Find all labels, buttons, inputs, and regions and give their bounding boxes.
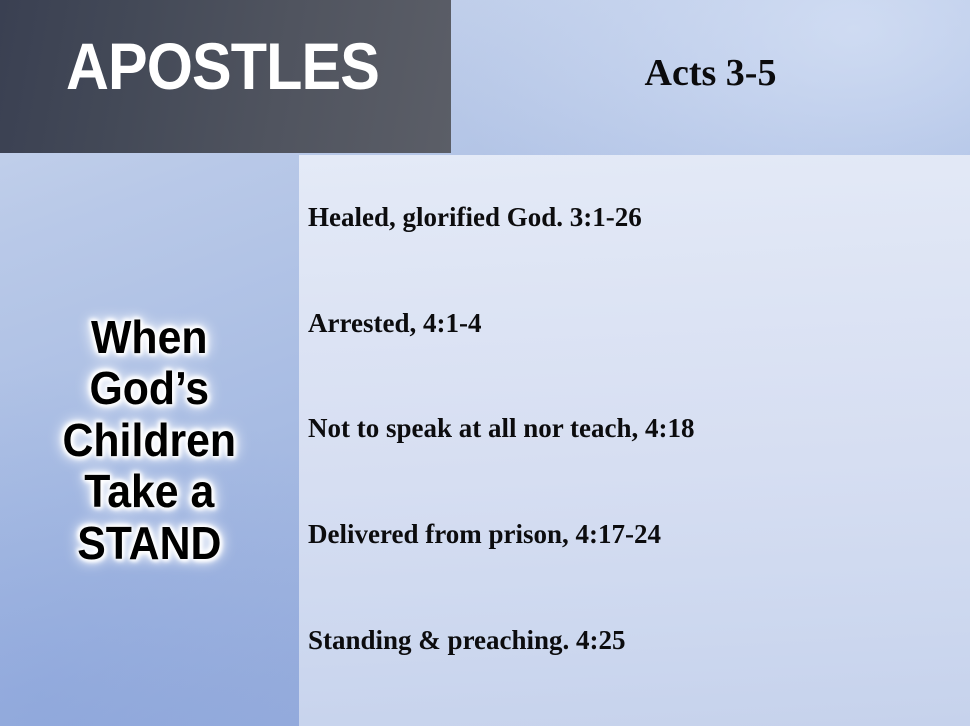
sidebar-headline-line-4: Take a [63,466,237,518]
scripture-reference-text: Acts 3-5 [645,51,777,95]
outline-point: Standing & preaching. 4:25 [308,626,970,656]
sidebar-headline-panel: When God’s Children Take a STAND [0,155,299,726]
outline-point: Delivered from prison, 4:17-24 [308,520,970,550]
sidebar-headline-line-3: Children [63,415,237,467]
sidebar-headline: When God’s Children Take a STAND [63,312,237,570]
scripture-reference-header: Acts 3-5 [451,0,970,153]
sidebar-headline-line-1: When [63,312,237,364]
content-panel: Healed, glorified God. 3:1-26 Arrested, … [299,155,970,726]
presentation-slide: APOSTLES Acts 3-5 When God’s Children Ta… [0,0,970,726]
title-block: APOSTLES [0,0,451,153]
sidebar-headline-line-2: God’s [63,363,237,415]
outline-point: Not to speak at all nor teach, 4:18 [308,414,970,444]
slide-title: APOSTLES [66,33,379,99]
outline-point: Arrested, 4:1-4 [308,309,970,339]
outline-point: Healed, glorified God. 3:1-26 [308,203,970,233]
outline-point-list: Healed, glorified God. 3:1-26 Arrested, … [308,155,970,726]
sidebar-headline-line-5: STAND [63,518,237,570]
